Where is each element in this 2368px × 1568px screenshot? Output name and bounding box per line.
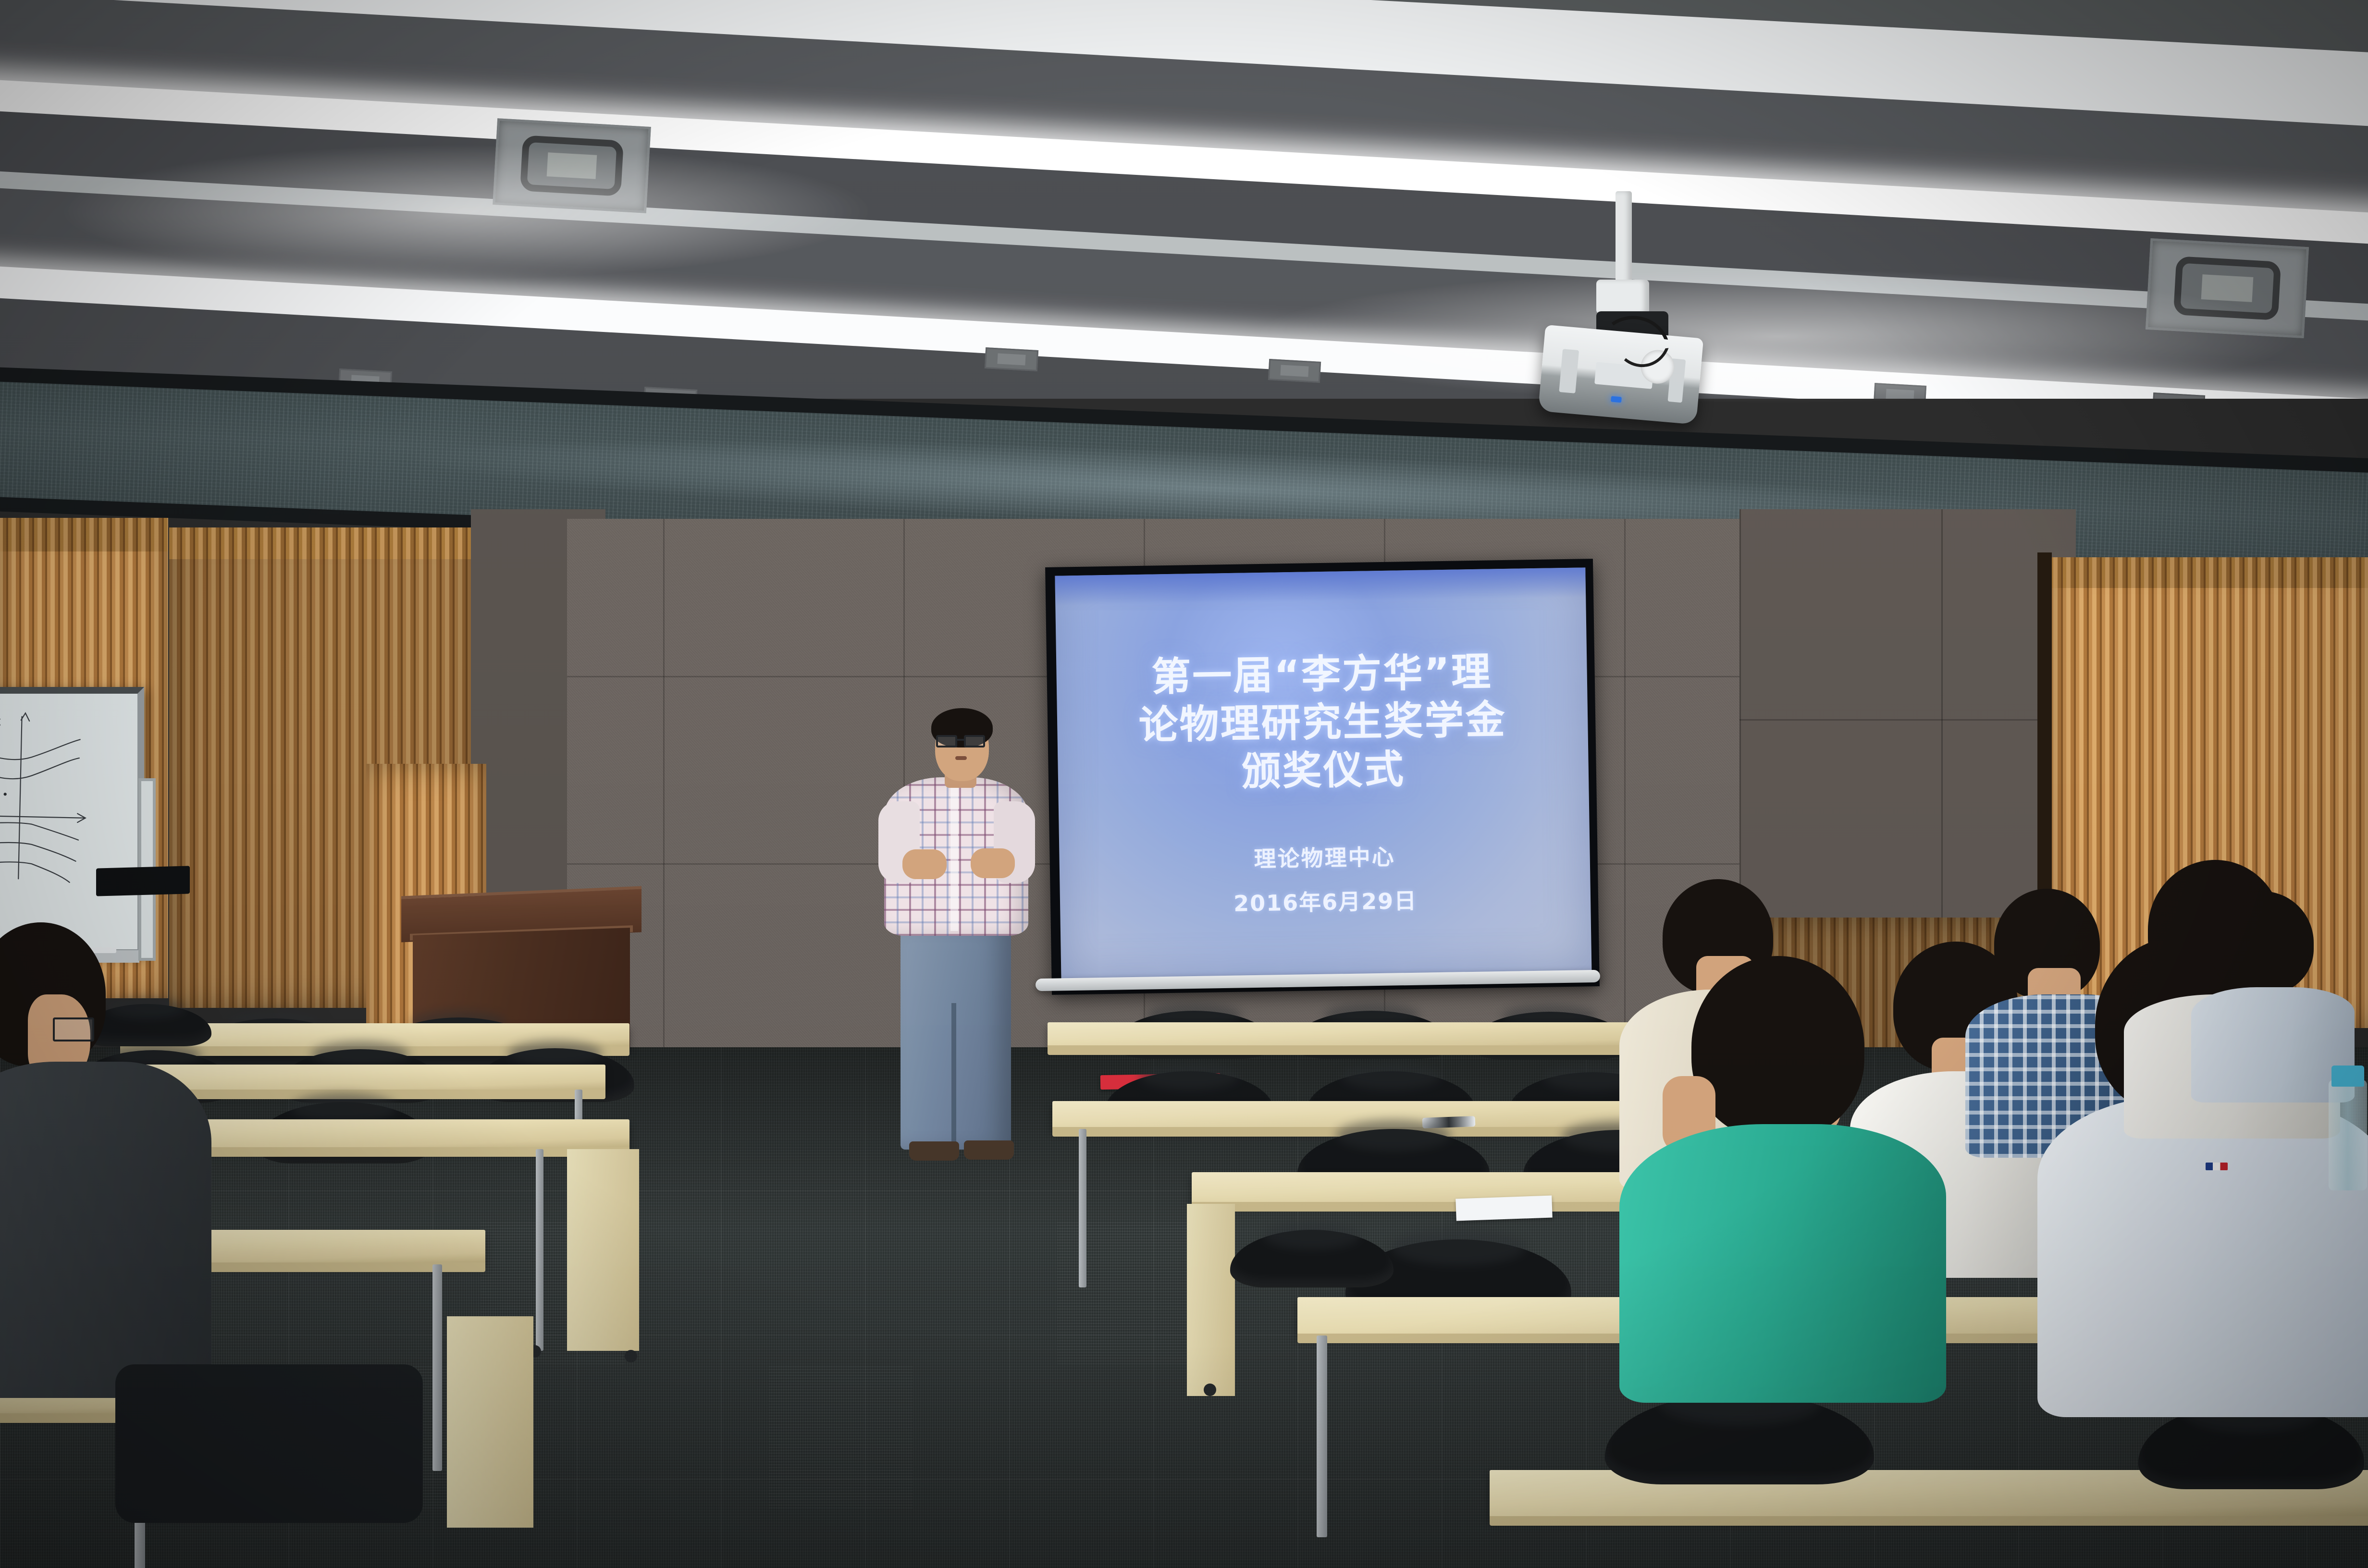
presenter-sandal-right: [964, 1140, 1014, 1160]
projector-mount-pole: [1616, 191, 1632, 287]
audience-member: [1634, 956, 1941, 1403]
attendee-hair: [2210, 891, 2314, 994]
desk-leg: [1317, 1335, 1327, 1537]
podium-monitor: [96, 866, 190, 896]
presenter-glasses-right-lens: [964, 735, 985, 747]
desk-leg: [536, 1149, 543, 1351]
desk-caster: [625, 1350, 637, 1362]
audience-member: [2191, 891, 2350, 1098]
water-bottle-cap[interactable]: [2331, 1066, 2364, 1087]
desk-caster: [1204, 1384, 1216, 1396]
paper-sheet[interactable]: [1455, 1196, 1552, 1221]
ceiling-downlight-3: [985, 347, 1038, 371]
water-bottle[interactable]: [2329, 1080, 2367, 1190]
ceiling-downlight-4: [1268, 359, 1321, 383]
ac-ceiling-cassette-right: [2146, 238, 2309, 338]
shirt-tricolor-tab-icon: [2206, 1163, 2228, 1170]
lecture-hall-scene: α β ζ ξ 第一届“李方华”理 论物理研究生奖学金 颁奖仪式 理论物理中心 …: [0, 0, 2368, 1568]
whiteboard: α β ζ ξ: [0, 687, 144, 956]
presenter-hand-right: [971, 848, 1015, 878]
attendee-shirt: [2037, 1095, 2368, 1417]
attendee-hair: [1691, 956, 1864, 1139]
projector-vent-left: [1559, 349, 1579, 393]
whiteboard-drawing: α β ζ ξ: [0, 694, 137, 941]
projector-mount-knuckle: [1596, 280, 1649, 314]
slide-subtitle: 理论物理中心: [1254, 840, 1395, 874]
wood-slat-cap-far-left: [0, 518, 168, 551]
presenter-jeans-seam: [951, 1003, 956, 1147]
desk-leg: [1079, 1129, 1086, 1287]
attendee-trousers: [115, 1364, 423, 1523]
slide-title-line-2: 论物理研究生奖学金: [1078, 695, 1567, 751]
audience-member: [0, 918, 240, 1568]
desk-modesty-panel: [1187, 1204, 1235, 1396]
presenter-mouth: [955, 756, 967, 760]
attendee-glasses: [53, 1017, 94, 1041]
projection-screen-surface: 第一届“李方华”理 论物理研究生奖学金 颁奖仪式 理论物理中心 2016年6月2…: [1055, 567, 1591, 982]
desk-leg: [432, 1264, 442, 1471]
presenter-shirt-placket: [950, 782, 958, 931]
desk: [1048, 1022, 1696, 1047]
projection-screen: 第一届“李方华”理 论物理研究生奖学金 颁奖仪式 理论物理中心 2016年6月2…: [1045, 559, 1600, 995]
presenter-hand-left: [902, 849, 947, 879]
projection-screen-frame: 第一届“李方华”理 论物理研究生奖学金 颁奖仪式 理论物理中心 2016年6月2…: [1045, 559, 1600, 995]
presenter-glasses-bridge: [956, 739, 965, 741]
attendee-shirt: [1619, 1124, 1946, 1403]
chair[interactable]: [1605, 1393, 1874, 1484]
ac-ceiling-cassette-left: [493, 118, 651, 213]
desk-modesty-panel: [567, 1149, 639, 1351]
chair[interactable]: [1230, 1230, 1394, 1287]
presenter: [875, 705, 1048, 1229]
presenter-glasses-left-lens: [936, 735, 957, 747]
projector-power-led: [1611, 396, 1622, 403]
attendee-shirt: [0, 1062, 211, 1398]
ceiling: [0, 0, 2368, 399]
slide-title-line-1: 第一届“李方华”理: [1077, 647, 1566, 703]
desk-modesty-panel: [447, 1316, 533, 1528]
wood-slat-cap-left: [169, 527, 477, 559]
slide-title-line-3: 颁奖仪式: [1079, 743, 1567, 799]
slide-date: 2016年6月29日: [1233, 883, 1418, 918]
svg-text:α β ζ: α β ζ: [0, 718, 1, 726]
ceiling-downlight-6: [1874, 383, 1926, 399]
wood-slat-cap-right: [2050, 557, 2368, 588]
presenter-sandal-left: [909, 1141, 959, 1161]
slide-title: 第一届“李方华”理 论物理研究生奖学金 颁奖仪式: [1077, 647, 1567, 799]
